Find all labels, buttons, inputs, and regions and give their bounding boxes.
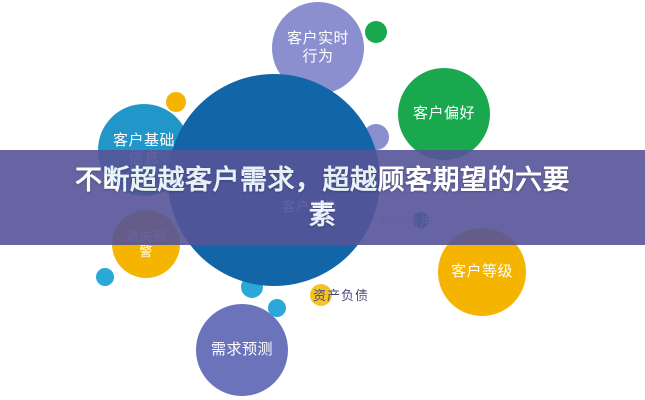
dot-teal-b xyxy=(268,299,286,317)
dot-green-top xyxy=(365,21,387,43)
bubble-label-demand-forecast: 需求预测 xyxy=(208,341,276,359)
dot-yellow-left xyxy=(166,92,186,112)
bubble-demand-forecast[interactable]: 需求预测 xyxy=(196,304,288,396)
bubble-label-customer-level: 客户等级 xyxy=(449,263,514,281)
headline-banner: 不断超越客户需求，超越顾客期望的六要 素 xyxy=(0,150,645,245)
bubble-label-customer-preference: 客户偏好 xyxy=(410,105,478,123)
infographic-canvas: 客户实时行为客户偏好客户基础信息流失预警客户等级需求预测 客户信用资产负债客户画… xyxy=(0,0,645,400)
dot-teal-left xyxy=(96,268,114,286)
bubble-customer-preference[interactable]: 客户偏好 xyxy=(398,68,490,160)
page-title: 不断超越客户需求，超越顾客期望的六要 素 xyxy=(33,163,613,232)
page-title-line-1: 不断超越客户需求，超越顾客期望的六要 xyxy=(75,165,570,195)
page-title-line-2: 素 xyxy=(309,200,337,230)
bubble-label-customer-realtime-behavior: 客户实时行为 xyxy=(284,30,352,65)
label-assets-liabilities: 资产负债 xyxy=(313,285,369,304)
